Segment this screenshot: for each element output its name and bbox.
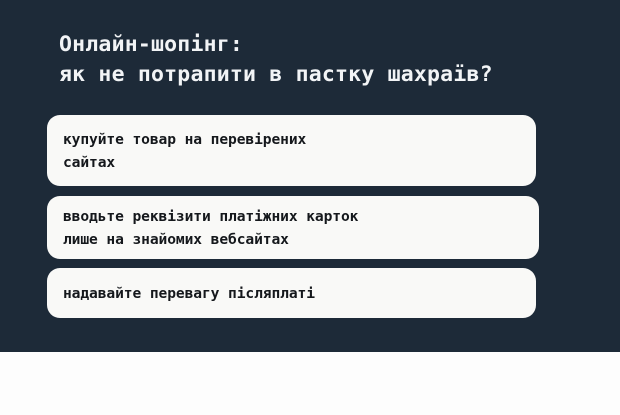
page-title-line-2: як не потрапити в пастку шахраїв? xyxy=(59,60,620,90)
footer-strip: ЯКЩО ВАС ОШУКАЛИ, НЕГАЙНО ЗВЕРНІТЬСЯ ДО … xyxy=(0,352,620,415)
tip-card-text: вводьте реквізити платіжних карток лише … xyxy=(47,205,372,251)
tip-card: купуйте товар на перевірених сайтах xyxy=(47,115,536,186)
page-title: Онлайн-шопінг: як не потрапити в пастку … xyxy=(59,30,620,90)
tip-card: вводьте реквізити платіжних карток лише … xyxy=(47,196,539,259)
poster-root: Онлайн-шопінг: як не потрапити в пастку … xyxy=(0,0,620,415)
tip-card-text: купуйте товар на перевірених сайтах xyxy=(47,128,320,174)
tip-card-text: надавайте перевагу післяплаті xyxy=(47,282,329,305)
tip-card: надавайте перевагу післяплаті xyxy=(47,268,536,318)
page-title-line-1: Онлайн-шопінг: xyxy=(59,30,620,60)
